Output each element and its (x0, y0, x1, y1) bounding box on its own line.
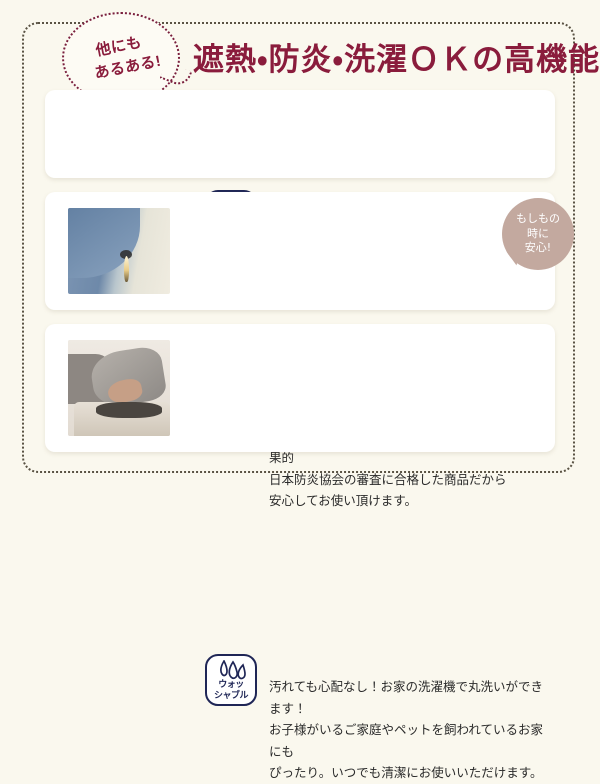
page-title: 遮熱・防炎・洗濯ＯＫの高機能 (193, 34, 600, 79)
washing-machine-photo (68, 340, 170, 436)
reassurance-bubble-text: もしもの 時に 安心! (516, 212, 560, 257)
feature-text-washable: 汚れても心配なし！お家の洗濯機で丸洗いができます！ お子様がいるご家庭やペットを… (269, 676, 555, 784)
washable-icon-label-line1: ウォッ (207, 680, 255, 690)
section-header: 他にも あるある! 遮熱・防炎・洗濯ＯＫの高機能 (45, 8, 565, 90)
washable-icon-label-line2: シャブル (207, 691, 255, 701)
water-droplets-icon (217, 660, 249, 682)
curtain-flame-photo (68, 208, 170, 294)
feature-card-washable: ウォッ シャブル 汚れても心配なし！お家の洗濯機で丸洗いができます！ お子様がい… (45, 324, 555, 452)
feature-card-flame: 防炎 万が一、火が燃え移っても燃え広がりにくいので、 火災の原因になりにくく、火… (45, 192, 555, 310)
feature-card-heat: 遮熱性 (45, 90, 555, 178)
washable-icon: ウォッ シャブル (205, 654, 257, 706)
reassurance-bubble: もしもの 時に 安心! (502, 198, 574, 270)
washable-icon-label: ウォッ シャブル (207, 680, 255, 701)
page-background: 他にも あるある! 遮熱・防炎・洗濯ＯＫの高機能 遮熱性 (0, 0, 600, 510)
